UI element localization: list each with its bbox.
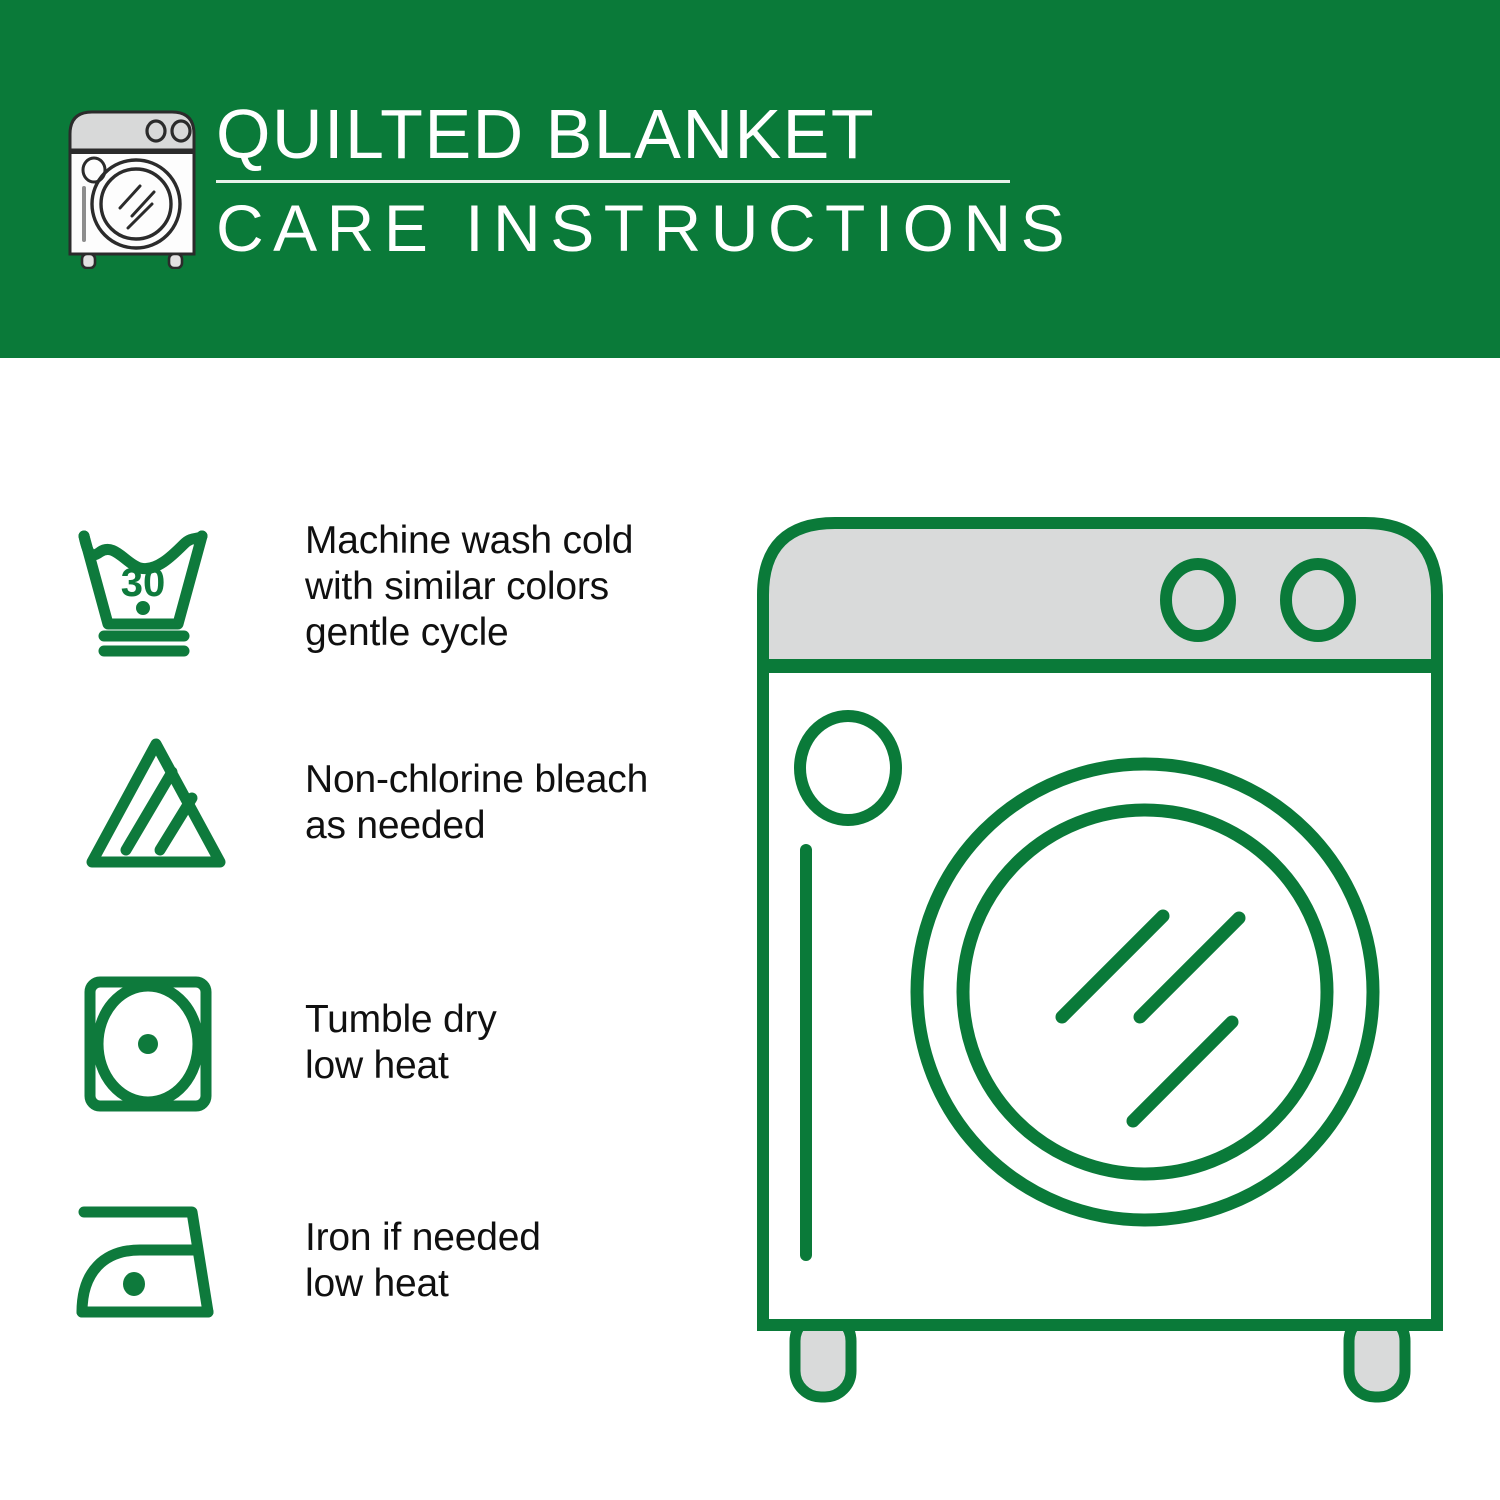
- iron-icon: [68, 1186, 243, 1336]
- washing-machine-illustration: [745, 505, 1455, 1405]
- page-title: QUILTED BLANKET: [216, 96, 1316, 172]
- care-line: Machine wash cold: [305, 518, 633, 564]
- care-line: low heat: [305, 1043, 497, 1089]
- care-row-tumble-dry: Tumble dry low heat: [68, 968, 708, 1118]
- care-row-iron: Iron if needed low heat: [68, 1186, 708, 1336]
- wash-tub-icon: 30: [68, 512, 243, 662]
- care-line: with similar colors: [305, 564, 633, 610]
- care-row-machine-wash: 30 Machine wash cold with similar colors…: [68, 512, 708, 662]
- header-banner: QUILTED BLANKET CARE INSTRUCTIONS: [0, 0, 1500, 358]
- care-row-bleach: Non-chlorine bleach as needed: [68, 728, 708, 878]
- wash-temperature-label: 30: [121, 561, 166, 605]
- care-line: Non-chlorine bleach: [305, 757, 648, 803]
- care-text-bleach: Non-chlorine bleach as needed: [305, 757, 648, 849]
- page-subtitle: CARE INSTRUCTIONS: [216, 192, 1316, 264]
- care-line: low heat: [305, 1261, 541, 1307]
- care-line: as needed: [305, 803, 648, 849]
- care-text-tumble-dry: Tumble dry low heat: [305, 997, 497, 1089]
- care-line: gentle cycle: [305, 610, 633, 656]
- care-text-machine-wash: Machine wash cold with similar colors ge…: [305, 518, 633, 656]
- bleach-triangle-icon: [68, 728, 243, 878]
- care-text-iron: Iron if needed low heat: [305, 1215, 541, 1307]
- machine-control-panel: [763, 523, 1437, 665]
- care-line: Iron if needed: [305, 1215, 541, 1261]
- washing-machine-icon: [62, 104, 202, 269]
- care-instructions-poster: QUILTED BLANKET CARE INSTRUCTIONS 30: [0, 0, 1500, 1500]
- care-line: Tumble dry: [305, 997, 497, 1043]
- header-text-block: QUILTED BLANKET CARE INSTRUCTIONS: [216, 96, 1316, 264]
- title-divider: [216, 180, 1010, 183]
- tumble-dry-icon: [68, 968, 243, 1118]
